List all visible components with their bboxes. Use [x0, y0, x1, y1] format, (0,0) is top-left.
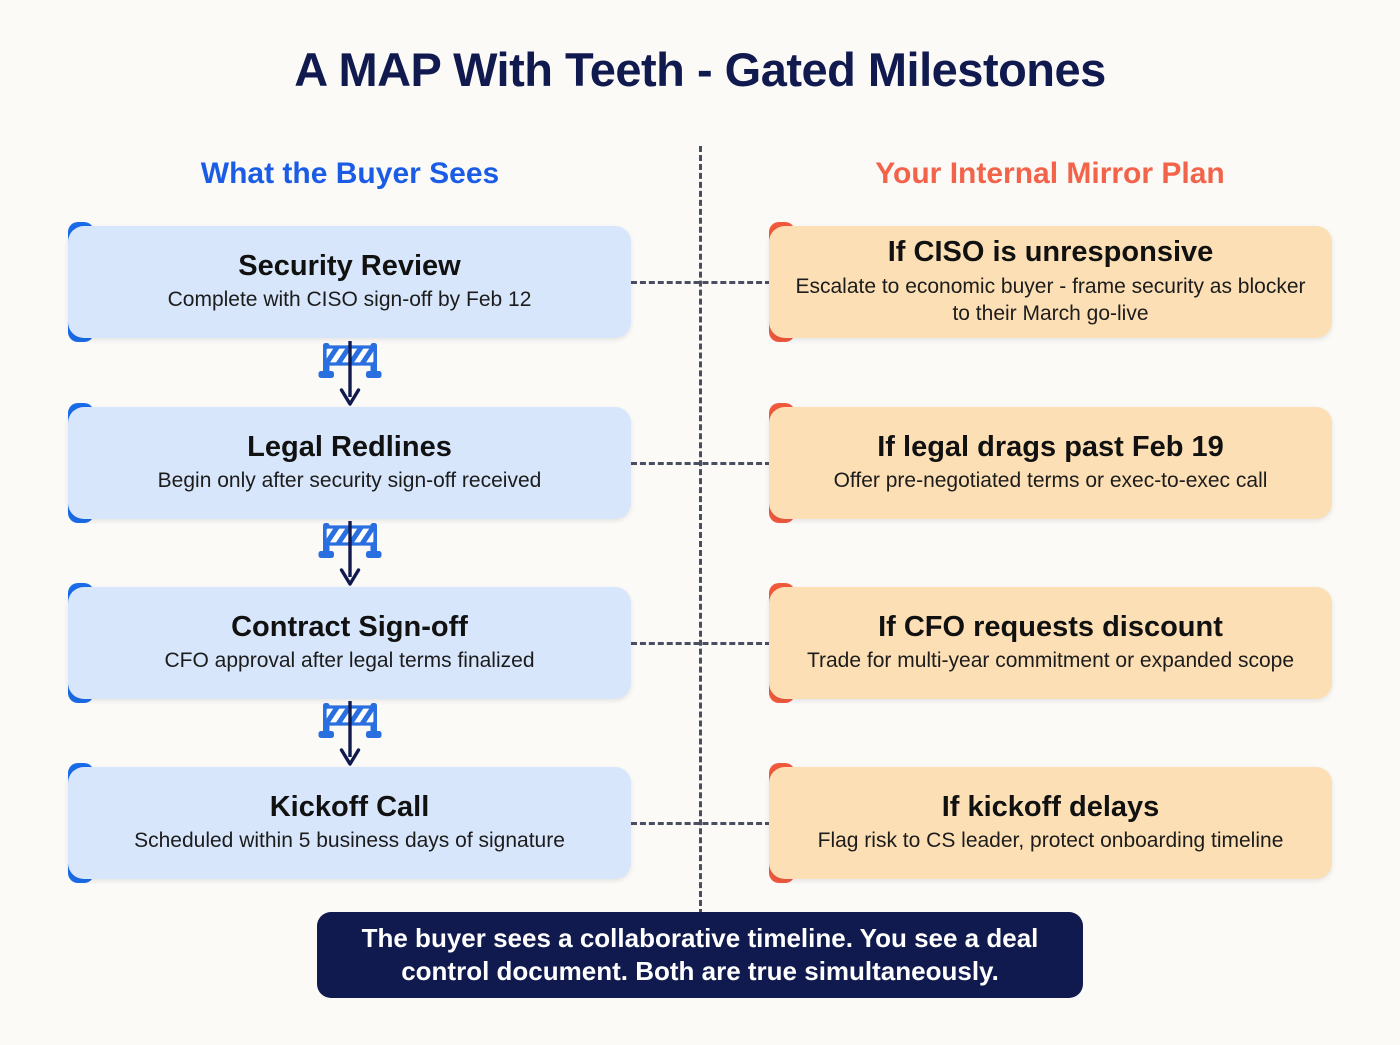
- internal-card-title: If legal drags past Feb 19: [877, 431, 1224, 465]
- row-connector-line: [631, 822, 771, 825]
- column-header-internal: Your Internal Mirror Plan: [770, 157, 1330, 190]
- internal-card-legal-drags[interactable]: If legal drags past Feb 19 Offer pre-neg…: [769, 407, 1332, 519]
- gate-barrier-icon: [310, 341, 390, 409]
- buyer-card-subtitle: CFO approval after legal terms finalized: [165, 648, 535, 675]
- buyer-card-legal-redlines[interactable]: Legal Redlines Begin only after security…: [68, 407, 631, 519]
- buyer-card-title: Security Review: [238, 250, 460, 284]
- buyer-card-security-review[interactable]: Security Review Complete with CISO sign-…: [68, 226, 631, 338]
- row-connector-line: [631, 462, 771, 465]
- page-title: A MAP With Teeth - Gated Milestones: [0, 44, 1400, 96]
- milestone-row: Kickoff Call Scheduled within 5 business…: [0, 767, 1400, 879]
- internal-card-title: If CISO is unresponsive: [888, 236, 1214, 270]
- footer-banner-text: The buyer sees a collaborative timeline.…: [347, 922, 1053, 988]
- gate-barrier-icon: [310, 701, 390, 769]
- internal-card-subtitle: Offer pre-negotiated terms or exec-to-ex…: [834, 468, 1268, 495]
- internal-card-subtitle: Flag risk to CS leader, protect onboardi…: [818, 828, 1284, 855]
- buyer-card-title: Kickoff Call: [270, 791, 430, 825]
- internal-card-title: If kickoff delays: [942, 791, 1160, 825]
- internal-card-title: If CFO requests discount: [878, 611, 1223, 645]
- buyer-card-subtitle: Scheduled within 5 business days of sign…: [134, 828, 565, 855]
- row-connector-line: [631, 642, 771, 645]
- buyer-card-kickoff-call[interactable]: Kickoff Call Scheduled within 5 business…: [68, 767, 631, 879]
- buyer-card-title: Contract Sign-off: [231, 611, 468, 645]
- buyer-card-subtitle: Begin only after security sign-off recei…: [158, 468, 542, 495]
- milestone-row: Legal Redlines Begin only after security…: [0, 407, 1400, 519]
- buyer-card-subtitle: Complete with CISO sign-off by Feb 12: [168, 287, 532, 314]
- internal-card-kickoff-delays[interactable]: If kickoff delays Flag risk to CS leader…: [769, 767, 1332, 879]
- milestone-row: Contract Sign-off CFO approval after leg…: [0, 587, 1400, 699]
- gate-barrier-icon: [310, 521, 390, 589]
- internal-card-subtitle: Escalate to economic buyer - frame secur…: [793, 274, 1308, 328]
- footer-banner: The buyer sees a collaborative timeline.…: [317, 912, 1083, 998]
- milestone-row: Security Review Complete with CISO sign-…: [0, 226, 1400, 338]
- row-connector-line: [631, 281, 771, 284]
- buyer-card-title: Legal Redlines: [247, 431, 452, 465]
- internal-card-subtitle: Trade for multi-year commitment or expan…: [807, 648, 1294, 675]
- internal-card-ciso-unresponsive[interactable]: If CISO is unresponsive Escalate to econ…: [769, 226, 1332, 338]
- column-header-buyer: What the Buyer Sees: [70, 157, 630, 190]
- buyer-card-contract-signoff[interactable]: Contract Sign-off CFO approval after leg…: [68, 587, 631, 699]
- internal-card-cfo-discount[interactable]: If CFO requests discount Trade for multi…: [769, 587, 1332, 699]
